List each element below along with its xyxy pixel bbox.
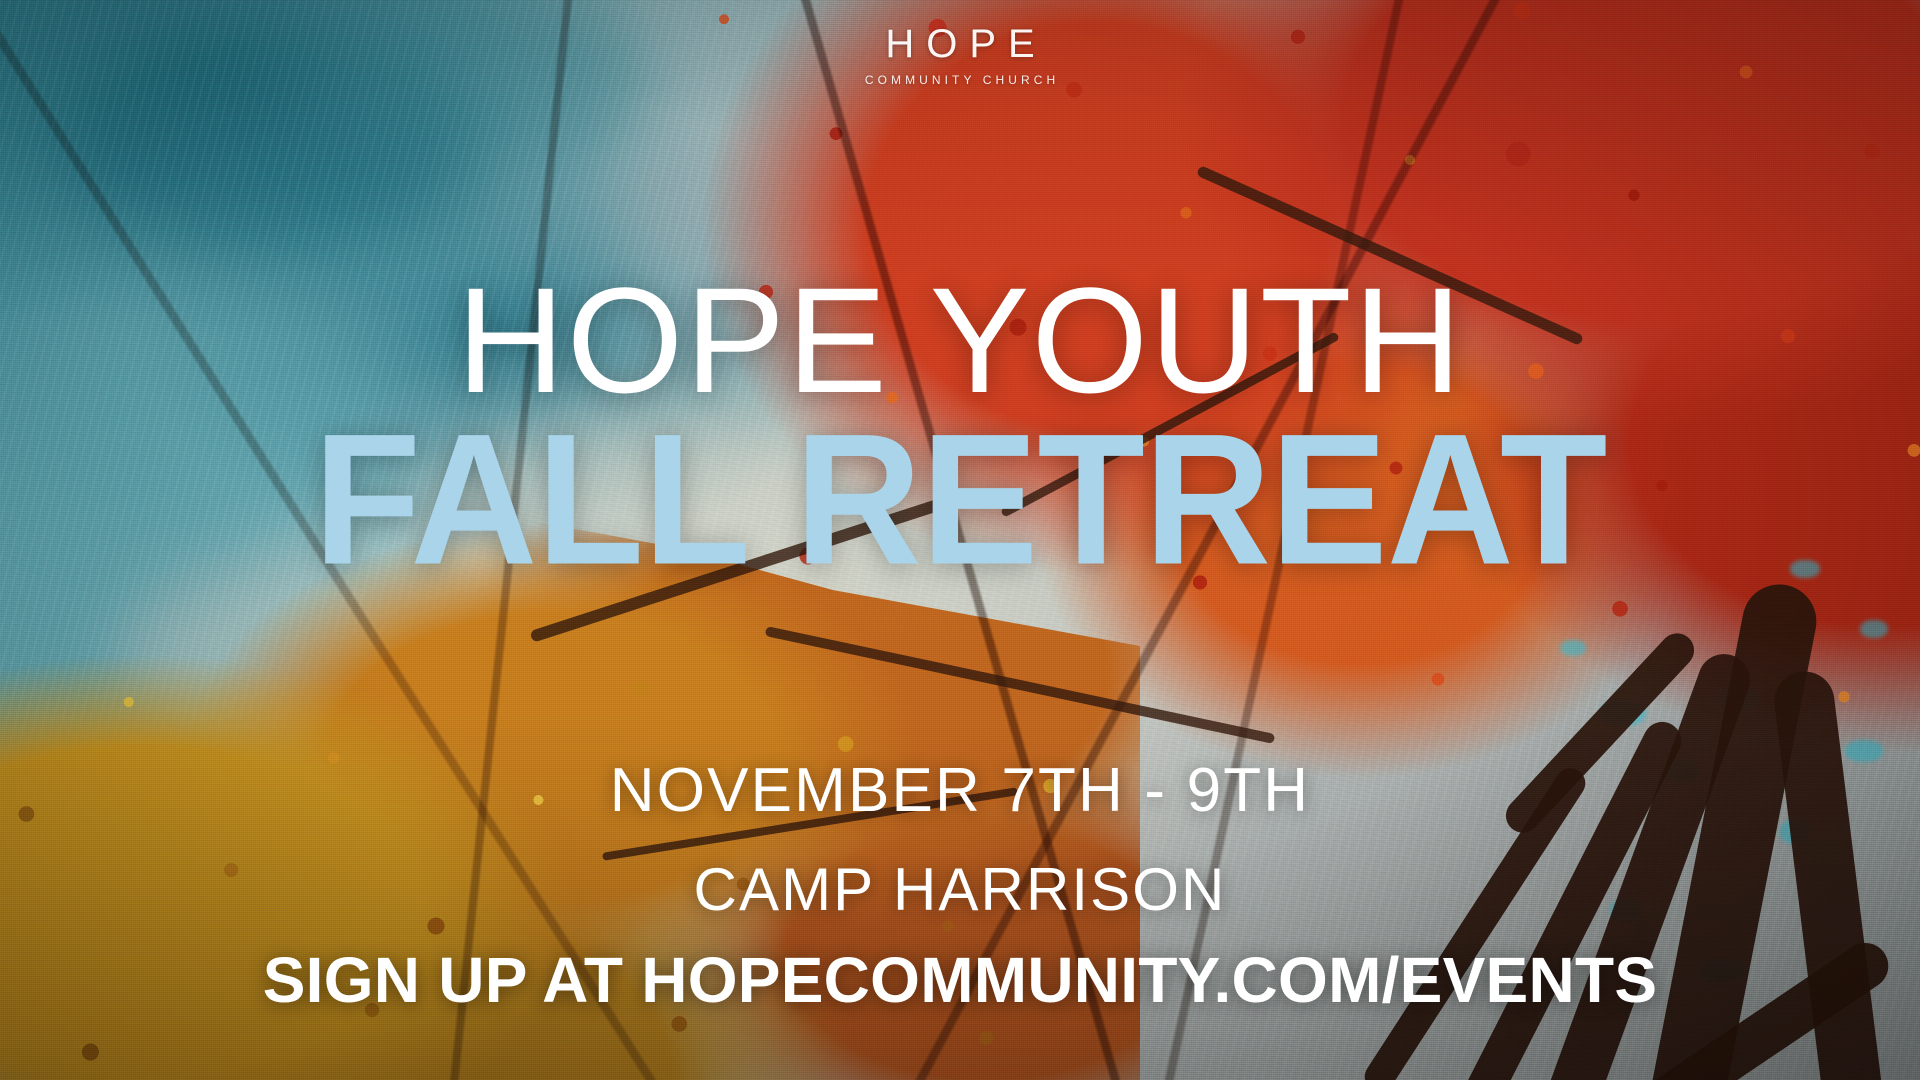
logo-tagline: COMMUNITY CHURCH [861, 73, 1059, 87]
poster-content: HOPE COMMUNITY CHURCH HOPE YOUTH FALL RE… [0, 0, 1920, 1080]
logo-wordmark: HOPE [861, 24, 1059, 64]
signup-call-to-action[interactable]: SIGN UP AT HOPECOMMUNITY.COM/EVENTS [0, 948, 1920, 1012]
headline-line-1: HOPE YOUTH [0, 268, 1920, 412]
event-dates: NOVEMBER 7TH - 9TH [0, 760, 1920, 822]
hope-community-church-logo: HOPE COMMUNITY CHURCH [861, 24, 1059, 87]
headline-block: HOPE YOUTH FALL RETREAT [0, 268, 1920, 578]
poster-canvas: HOPE COMMUNITY CHURCH HOPE YOUTH FALL RE… [0, 0, 1920, 1080]
event-details-block: NOVEMBER 7TH - 9TH CAMP HARRISON [0, 760, 1920, 920]
headline-line-2: FALL RETREAT [0, 414, 1920, 587]
event-location: CAMP HARRISON [0, 860, 1920, 920]
